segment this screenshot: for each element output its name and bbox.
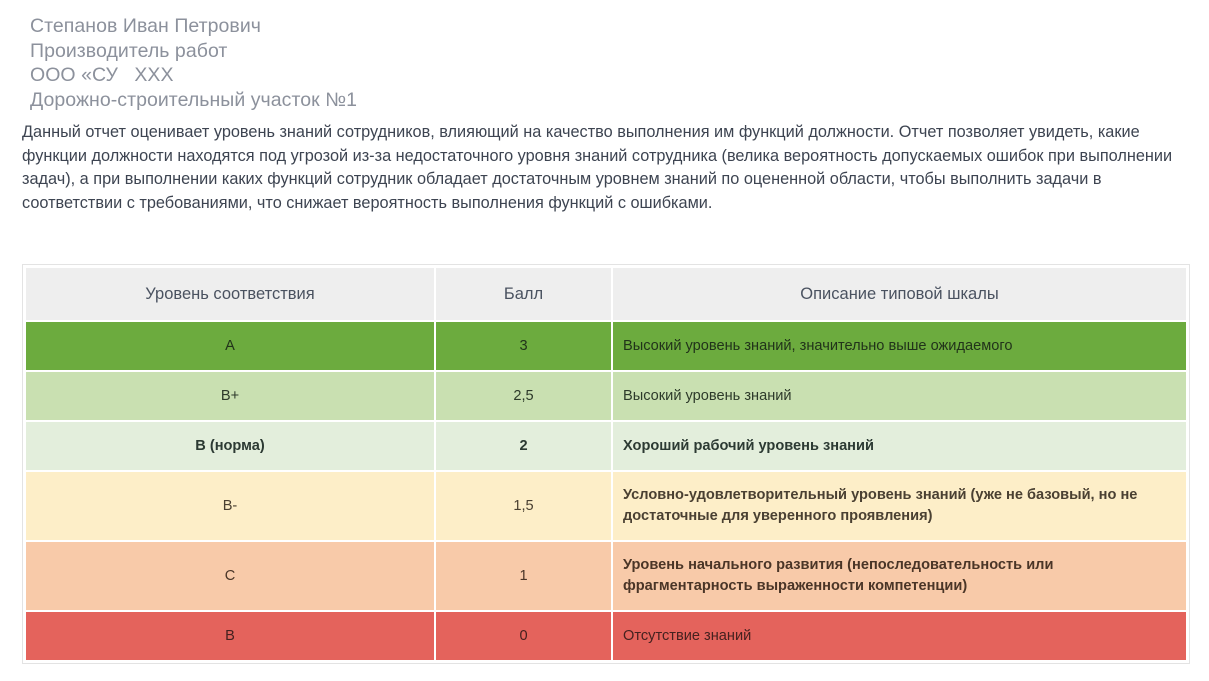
table-row: B- 1,5 Условно-удовлетворительный уровен… [26,472,1186,540]
cell-score: 2 [436,422,611,470]
employee-header: Степанов Иван Петрович Производитель раб… [0,0,1209,112]
table-header-row: Уровень соответствия Балл Описание типов… [26,268,1186,320]
cell-score: 0 [436,612,611,660]
cell-level: B+ [26,372,434,420]
report-description: Данный отчет оценивает уровень знаний со… [22,121,1187,215]
table-row: C 1 Уровень начального развития (непосле… [26,542,1186,610]
table-row: A 3 Высокий уровень знаний, значительно … [26,322,1186,370]
employee-department: Дорожно-строительный участок №1 [30,88,1209,113]
cell-score: 3 [436,322,611,370]
cell-description: Высокий уровень знаний, значительно выше… [613,322,1186,370]
cell-description: Высокий уровень знаний [613,372,1186,420]
cell-score: 1,5 [436,472,611,540]
employee-name: Степанов Иван Петрович [30,14,1209,39]
scale-table-container: Уровень соответствия Балл Описание типов… [22,264,1190,664]
cell-description: Уровень начального развития (непоследова… [613,542,1186,610]
scale-table-head: Уровень соответствия Балл Описание типов… [26,268,1186,320]
cell-level: B- [26,472,434,540]
report-page: Степанов Иван Петрович Производитель раб… [0,0,1209,681]
cell-level: B (норма) [26,422,434,470]
table-row: B 0 Отсутствие знаний [26,612,1186,660]
column-header-description: Описание типовой шкалы [613,268,1186,320]
employee-company: ООО «СУ XXX [30,63,1209,88]
cell-description: Условно-удовлетворительный уровень знани… [613,472,1186,540]
scale-table: Уровень соответствия Балл Описание типов… [24,266,1188,662]
employee-position: Производитель работ [30,39,1209,64]
column-header-score: Балл [436,268,611,320]
cell-level: B [26,612,434,660]
table-row: B (норма) 2 Хороший рабочий уровень знан… [26,422,1186,470]
scale-table-body: A 3 Высокий уровень знаний, значительно … [26,322,1186,660]
cell-description: Хороший рабочий уровень знаний [613,422,1186,470]
cell-description: Отсутствие знаний [613,612,1186,660]
column-header-level: Уровень соответствия [26,268,434,320]
cell-score: 2,5 [436,372,611,420]
table-row: B+ 2,5 Высокий уровень знаний [26,372,1186,420]
cell-level: C [26,542,434,610]
cell-level: A [26,322,434,370]
cell-score: 1 [436,542,611,610]
